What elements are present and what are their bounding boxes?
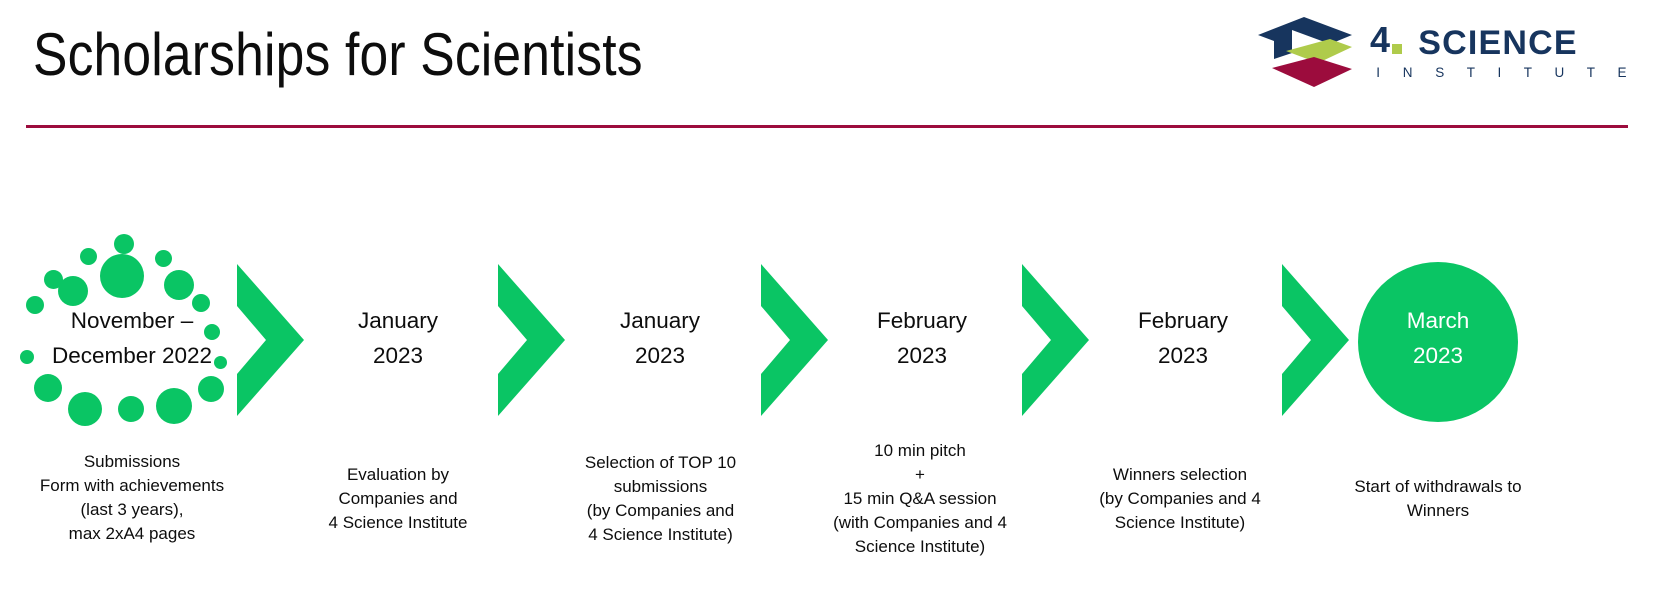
step-date-line2: 2023: [1085, 338, 1281, 373]
chevron-right-icon: [1018, 264, 1093, 416]
timeline: November – December 2022 January 2023 Ja…: [0, 0, 1654, 607]
chevron-right-icon: [757, 264, 832, 416]
cluster-dot: [164, 270, 194, 300]
cluster-dot: [58, 276, 88, 306]
chevron-right-icon: [233, 264, 308, 416]
timeline-step-3-caption: Selection of TOP 10 submissions (by Comp…: [558, 451, 763, 547]
cluster-dot: [156, 388, 192, 424]
timeline-step-1-caption: Submissions Form with achievements (last…: [16, 450, 248, 546]
chevron-right-icon: [494, 264, 569, 416]
cluster-dot: [68, 392, 102, 426]
step-date-line1: February: [1085, 303, 1281, 338]
step-date-line2: 2023: [562, 338, 758, 373]
timeline-step-4-date: February 2023: [824, 303, 1020, 373]
step-date-line1: January: [300, 303, 496, 338]
timeline-step-6-date: March 2023: [1358, 303, 1518, 373]
cluster-dot: [34, 374, 62, 402]
timeline-step-2-caption: Evaluation by Companies and 4 Science In…: [300, 463, 496, 535]
timeline-step-5-caption: Winners selection (by Companies and 4 Sc…: [1080, 463, 1280, 535]
timeline-step-6-caption: Start of withdrawals to Winners: [1340, 475, 1536, 523]
timeline-step-3-date: January 2023: [562, 303, 758, 373]
cluster-dot: [114, 234, 134, 254]
timeline-step-1-date: November – December 2022: [16, 303, 248, 373]
cluster-dot: [118, 396, 144, 422]
step-date-line2: December 2022: [16, 338, 248, 373]
timeline-step-5-date: February 2023: [1085, 303, 1281, 373]
step-date-line2: 2023: [1358, 338, 1518, 373]
step-date-line1: November –: [16, 303, 248, 338]
timeline-step-4-caption: 10 min pitch + 15 min Q&A session (with …: [820, 439, 1020, 559]
cluster-dot: [100, 254, 144, 298]
cluster-dot: [198, 376, 224, 402]
step-date-line1: March: [1358, 303, 1518, 338]
timeline-step-2-date: January 2023: [300, 303, 496, 373]
step-date-line2: 2023: [824, 338, 1020, 373]
step-date-line1: January: [562, 303, 758, 338]
step-date-line2: 2023: [300, 338, 496, 373]
cluster-dot: [80, 248, 97, 265]
chevron-right-icon: [1278, 264, 1353, 416]
step-date-line1: February: [824, 303, 1020, 338]
cluster-dot: [155, 250, 172, 267]
